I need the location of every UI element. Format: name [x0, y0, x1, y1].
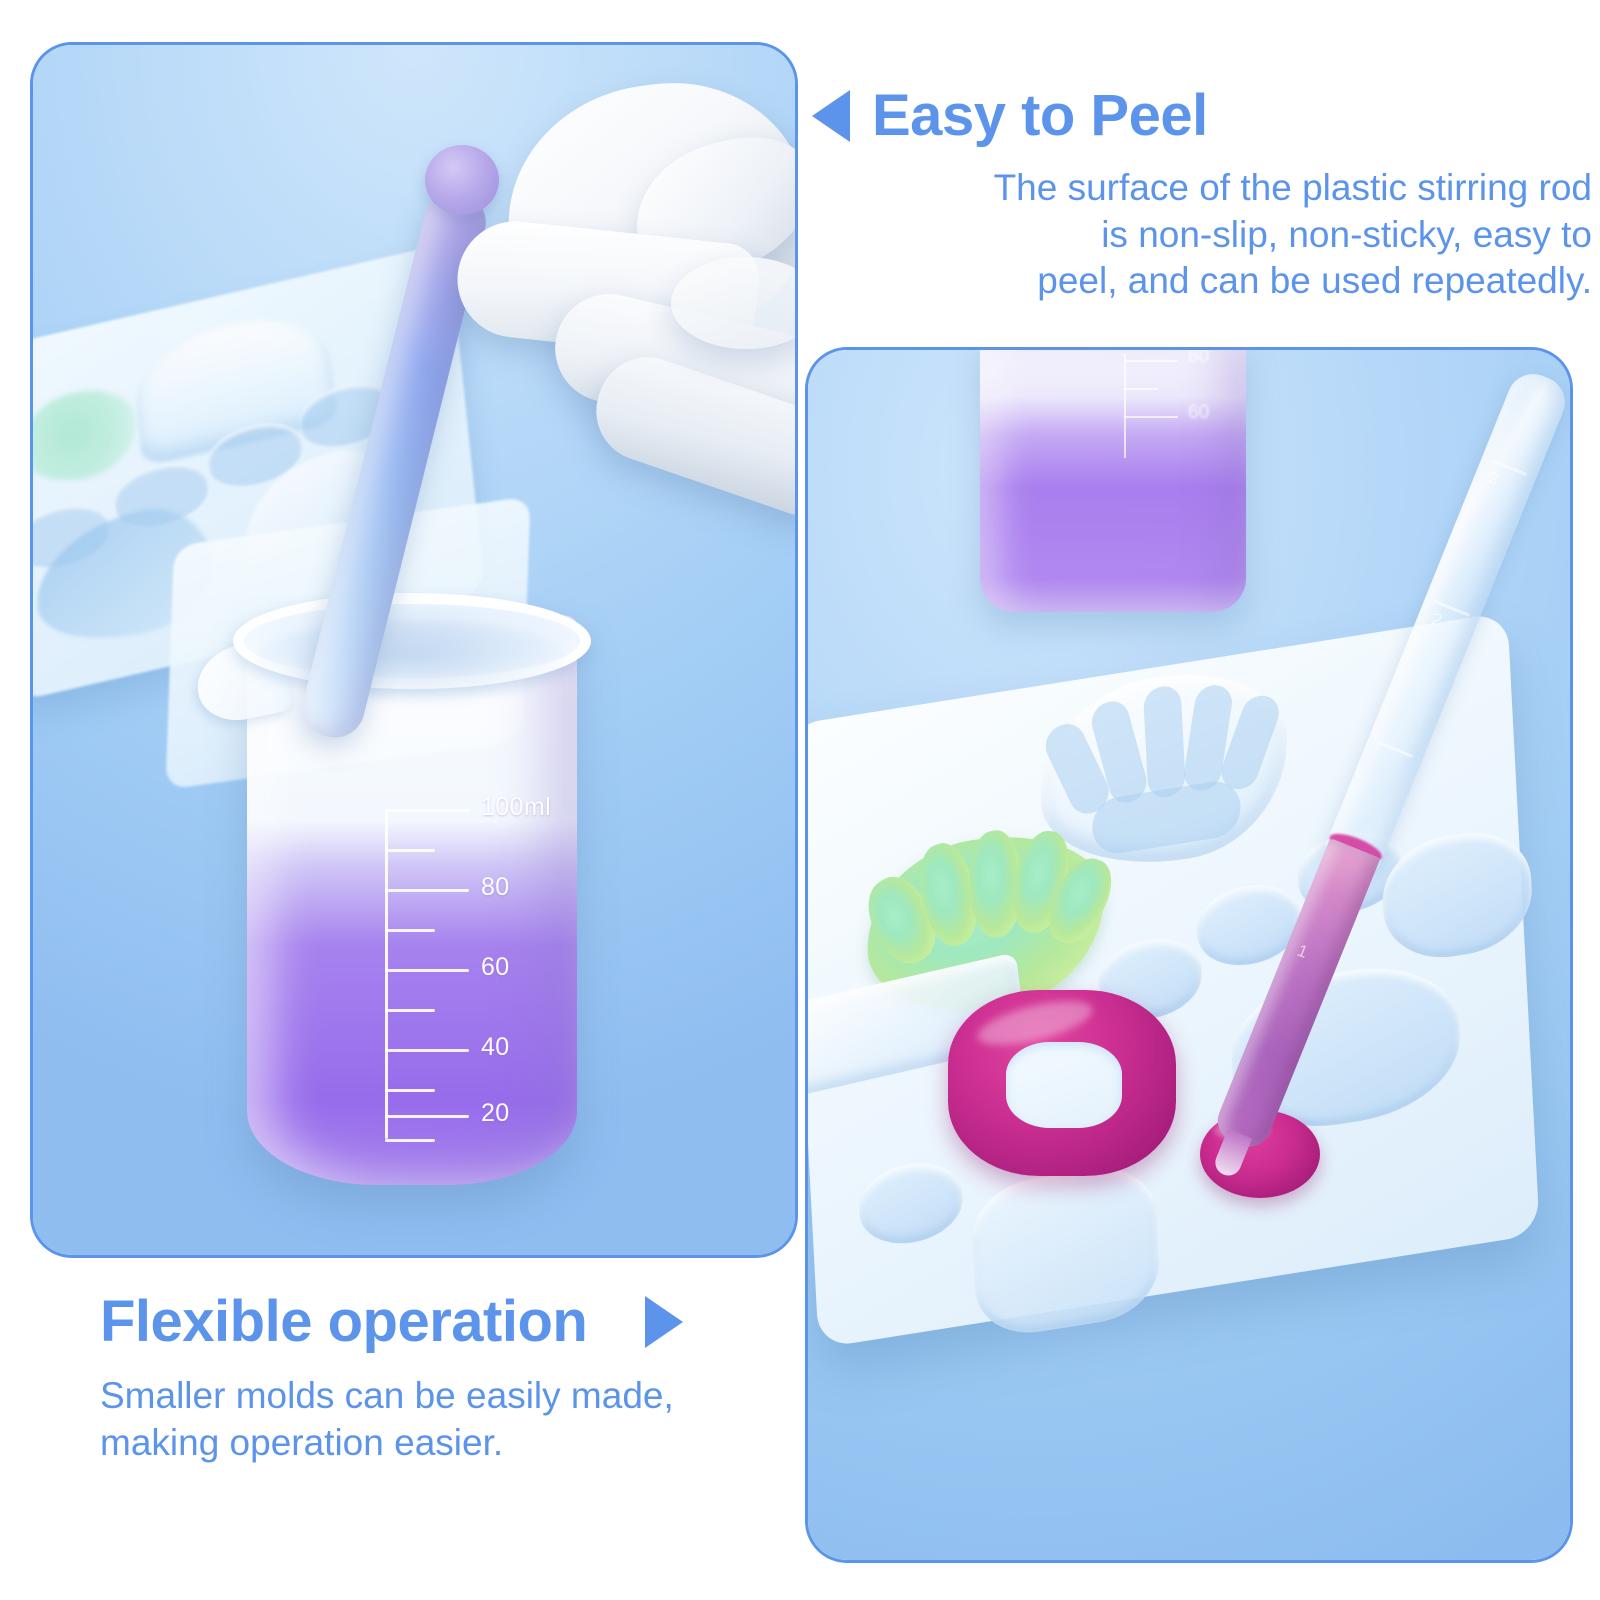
callout-heading-row: Easy to Peel — [812, 86, 1592, 147]
round-cavity — [857, 1156, 964, 1251]
callout-heading-row: Flexible operation — [100, 1292, 800, 1353]
ring-center-hole — [1006, 1042, 1122, 1128]
beaker-tick — [1124, 388, 1158, 390]
scale-tick-minor — [385, 1009, 435, 1012]
scale-tick-minor — [385, 1139, 435, 1142]
large-oval-cavity — [1380, 823, 1534, 967]
pipette-label-2: 2 — [1428, 609, 1444, 631]
leaf-resin-blur — [30, 379, 141, 492]
callout-flexible-operation: Flexible operation Smaller molds can be … — [100, 1292, 800, 1466]
scale-tick-minor — [385, 849, 435, 852]
magenta-resin-ring — [948, 990, 1176, 1176]
scale-tick-major — [385, 1115, 469, 1118]
scale-tick-major — [385, 969, 469, 972]
pipette-label-1: 1 — [1294, 941, 1310, 963]
beaker-label-80: 80 — [1188, 347, 1209, 368]
scale-label-100ml: 100ml — [481, 793, 551, 822]
stirring-rod-tip — [425, 145, 499, 215]
callout-easy-to-peel: Easy to Peel The surface of the plastic … — [812, 86, 1592, 305]
scale-tick-minor — [385, 929, 435, 932]
triangle-right-icon — [645, 1296, 683, 1348]
measuring-cup-scale: 100ml 80 60 40 20 — [385, 803, 565, 1143]
callout-heading: Easy to Peel — [872, 86, 1208, 147]
callout-body: The surface of the plastic stirring rod … — [812, 165, 1592, 305]
scale-label-40: 40 — [481, 1033, 510, 1062]
scale-tick-minor — [385, 1089, 435, 1092]
callout-body: Smaller molds can be easily made, making… — [100, 1373, 800, 1466]
beaker-tick — [1124, 416, 1178, 418]
scale-tick-major — [385, 1049, 469, 1052]
pipette-mold-photo-panel: 80 60 — [805, 347, 1573, 1563]
leaf-lobe-slot — [1143, 684, 1186, 800]
infographic-canvas: 100ml 80 60 40 20 — [0, 0, 1600, 1600]
resin-beaker: 80 60 — [980, 347, 1246, 612]
beaker-scale: 80 60 — [1124, 354, 1244, 464]
pipette-label-3: 3 — [1485, 468, 1501, 490]
leaf-shaped-cavity — [1036, 657, 1293, 881]
beaker-label-60: 60 — [1188, 402, 1209, 424]
callout-heading: Flexible operation — [100, 1292, 587, 1353]
scale-tick-major — [385, 809, 469, 812]
cup-interior-shadow — [255, 619, 567, 699]
scale-label-60: 60 — [481, 953, 510, 982]
triangle-left-icon — [812, 90, 850, 142]
beaker-tick — [1124, 360, 1178, 362]
scale-label-80: 80 — [481, 873, 510, 902]
beaker-scale-axis — [1124, 354, 1126, 458]
scale-tick-major — [385, 889, 469, 892]
pipette-graduation — [1377, 741, 1413, 758]
silicone-measuring-cup: 100ml 80 60 40 20 — [195, 553, 615, 1213]
stirring-rod-photo-panel: 100ml 80 60 40 20 — [30, 42, 798, 1258]
scale-label-20: 20 — [481, 1099, 510, 1128]
